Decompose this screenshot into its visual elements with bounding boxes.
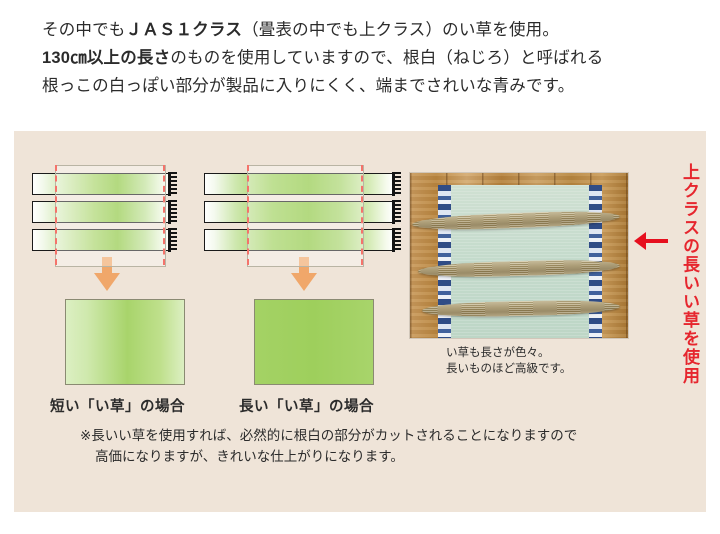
callout-vertical-text: 上クラスの長いい草を使用 bbox=[671, 163, 699, 385]
cut-guide-line-right bbox=[163, 165, 165, 265]
cut-guide-line-left bbox=[55, 165, 57, 265]
igusa-photo bbox=[410, 173, 628, 338]
short-igusa-case: 短い「い草」の場合 bbox=[32, 131, 212, 261]
cut-guide-line-right bbox=[361, 165, 363, 265]
igusa-cut-tip-icon bbox=[168, 200, 177, 224]
intro-line-2: 130㎝以上の長さのものを使用していますので、根白（ねじろ）と呼ばれる bbox=[42, 44, 692, 72]
intro-line-3: 根っこの白っぽい部分が製品に入りにくく、端までされいな青みです。 bbox=[42, 72, 692, 100]
igusa-cut-tip-icon bbox=[168, 172, 177, 196]
arrow-head bbox=[291, 273, 317, 291]
long-result-mat-swatch bbox=[254, 299, 374, 385]
cut-guide-line-left bbox=[247, 165, 249, 265]
short-usable-length-box bbox=[55, 165, 166, 267]
long-case-label: 長い「い草」の場合 bbox=[239, 395, 374, 416]
intro-line-1: その中でもＪＡＳ１クラス（畳表の中でも上クラス）のい草を使用。 bbox=[42, 16, 692, 44]
intro-line-1-emphasis: ＪＡＳ１クラス bbox=[126, 21, 243, 39]
intro-line-2-suffix: のものを使用していますので、根白（ねじろ）と呼ばれる bbox=[170, 49, 603, 67]
footnote-line-2: 高価になりますが、きれいな仕上がりになります。 bbox=[80, 446, 680, 467]
long-usable-length-box bbox=[247, 165, 364, 267]
intro-line-1-suffix: （畳表の中でも上クラス）のい草を使用。 bbox=[242, 21, 559, 39]
intro-line-2-emphasis: 130㎝以上の長さ bbox=[42, 49, 170, 67]
footnote-line-1: ※長いい草を使用すれば、必然的に根白の部分がカットされることになりますので bbox=[80, 425, 680, 446]
short-case-label: 短い「い草」の場合 bbox=[50, 395, 185, 416]
igusa-cut-tip-icon bbox=[392, 228, 401, 252]
short-result-mat-swatch bbox=[65, 299, 185, 385]
long-igusa-case: 長い「い草」の場合 bbox=[204, 131, 419, 261]
photo-caption-line-1: い草も長さが色々。 bbox=[446, 345, 571, 361]
short-strip-stack bbox=[32, 171, 212, 261]
intro-paragraph: その中でもＪＡＳ１クラス（畳表の中でも上クラス）のい草を使用。 130㎝以上の長… bbox=[42, 16, 692, 100]
long-strip-stack bbox=[204, 171, 419, 261]
arrow-head bbox=[94, 273, 120, 291]
footnote: ※長いい草を使用すれば、必然的に根白の部分がカットされることになりますので 高価… bbox=[80, 425, 680, 467]
igusa-cut-tip-icon bbox=[392, 200, 401, 224]
photo-caption: い草も長さが色々。 長いものほど高級です。 bbox=[446, 345, 571, 377]
igusa-cut-tip-icon bbox=[392, 172, 401, 196]
photo-frame bbox=[410, 173, 628, 338]
illustration-panel: 短い「い草」の場合 長い「い草」の場合 bbox=[14, 131, 706, 512]
photo-caption-line-2: 長いものほど高級です。 bbox=[446, 361, 571, 377]
left-arrow-icon bbox=[634, 231, 668, 251]
intro-line-1-prefix: その中でも bbox=[42, 21, 126, 39]
arrow-shaft bbox=[644, 239, 668, 243]
arrow-head bbox=[634, 232, 646, 250]
igusa-cut-tip-icon bbox=[168, 228, 177, 252]
